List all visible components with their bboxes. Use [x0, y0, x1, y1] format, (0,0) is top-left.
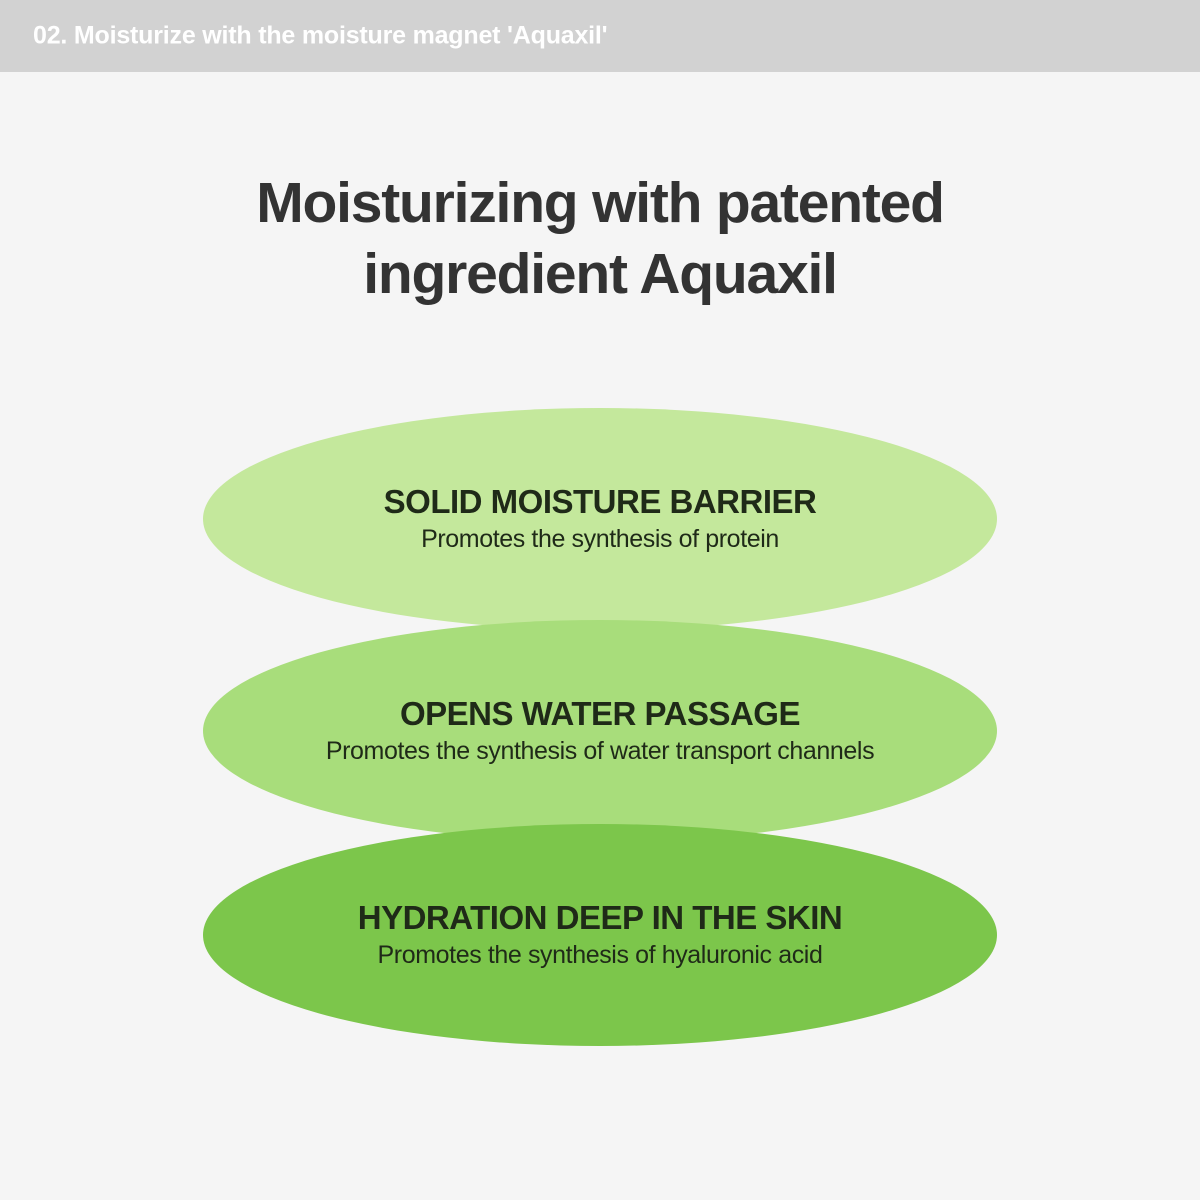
ellipse-layer-heading: SOLID MOISTURE BARRIER [384, 484, 817, 520]
ellipse-layer-opens-water-passage: OPENS WATER PASSAGE Promotes the synthes… [203, 620, 997, 842]
ellipse-layer-solid-moisture-barrier: SOLID MOISTURE BARRIER Promotes the synt… [203, 408, 997, 630]
ellipse-layer-subtext: Promotes the synthesis of hyaluronic aci… [378, 942, 823, 970]
ellipse-layer-subtext: Promotes the synthesis of water transpor… [326, 738, 874, 766]
ellipse-layer-hydration-deep-in-the-skin: HYDRATION DEEP IN THE SKIN Promotes the … [203, 824, 997, 1046]
ellipse-layer-subtext: Promotes the synthesis of protein [421, 526, 779, 554]
ellipse-layer-heading: OPENS WATER PASSAGE [400, 696, 800, 732]
stacked-ellipse-diagram: SOLID MOISTURE BARRIER Promotes the synt… [0, 0, 1200, 1200]
ellipse-layer-heading: HYDRATION DEEP IN THE SKIN [358, 900, 843, 936]
